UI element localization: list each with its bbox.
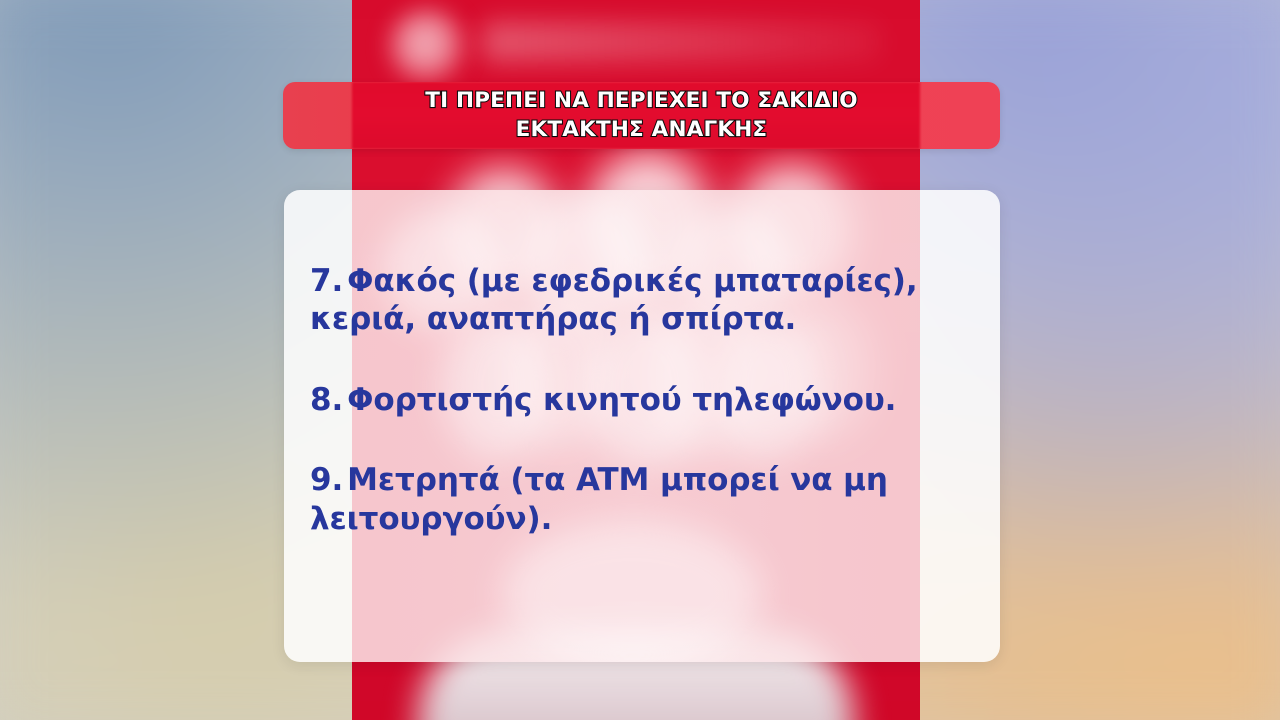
banner-title: ΤΙ ΠΡΕΠΕΙ ΝΑ ΠΕΡΙΕΧΕΙ ΤΟ ΣΑΚΙΔΙΟ ΕΚΤΑΚΤΗ… bbox=[401, 87, 881, 144]
video-frame: ΤΙ ΠΡΕΠΕΙ ΝΑ ΠΕΡΙΕΧΕΙ ΤΟ ΣΑΚΙΔΙΟ ΕΚΤΑΚΤΗ… bbox=[0, 0, 1280, 720]
list-item-number: 8. bbox=[310, 382, 343, 418]
poster-emblem-icon bbox=[388, 8, 466, 86]
list-item-number: 9. bbox=[310, 462, 343, 498]
list-item: 8.Φορτιστής κινητού τηλεφώνου. bbox=[310, 381, 952, 419]
list-item-number: 7. bbox=[310, 263, 343, 299]
list-item: 7.Φακός (με εφεδρικές μπαταρίες), κεριά,… bbox=[310, 262, 952, 339]
poster-title-smear bbox=[482, 22, 882, 62]
title-banner: ΤΙ ΠΡΕΠΕΙ ΝΑ ΠΕΡΙΕΧΕΙ ΤΟ ΣΑΚΙΔΙΟ ΕΚΤΑΚΤΗ… bbox=[283, 82, 1000, 149]
content-panel: 7.Φακός (με εφεδρικές μπαταρίες), κεριά,… bbox=[284, 190, 1000, 662]
list-item: 9.Μετρητά (τα ATM μπορεί να μη λειτουργο… bbox=[310, 461, 952, 538]
checklist: 7.Φακός (με εφεδρικές μπαταρίες), κεριά,… bbox=[284, 190, 1000, 538]
list-item-text: Φορτιστής κινητού τηλεφώνου. bbox=[347, 382, 896, 418]
list-item-text: Μετρητά (τα ATM μπορεί να μη λειτουργούν… bbox=[310, 462, 888, 536]
list-item-text: Φακός (με εφεδρικές μπαταρίες), κεριά, α… bbox=[310, 263, 918, 337]
